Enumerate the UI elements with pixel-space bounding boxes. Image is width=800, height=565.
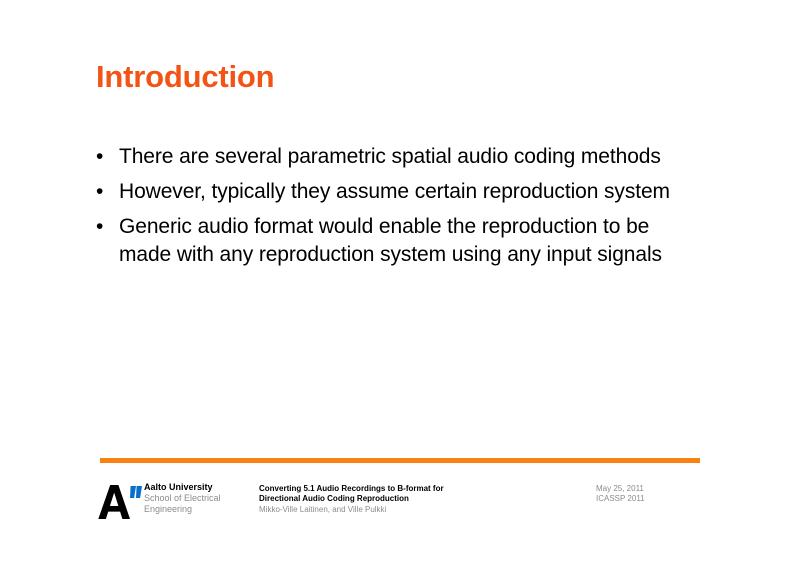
bullet-point-icon: • [93, 143, 119, 171]
list-item: • However, typically they assume certain… [93, 178, 703, 206]
bullet-text: However, typically they assume certain r… [119, 178, 703, 206]
conference-name: ICASSP 2011 [596, 494, 708, 504]
presentation-slide: Introduction • There are several paramet… [0, 0, 800, 565]
organization-name: Aalto University [144, 482, 221, 493]
bullet-list: • There are several parametric spatial a… [93, 143, 703, 276]
slide-footer: Aalto University School of Electrical En… [96, 481, 708, 525]
aalto-a-mark-icon [96, 481, 142, 521]
bullet-text: There are several parametric spatial aud… [119, 143, 703, 171]
aalto-logo-wordmark: Aalto University School of Electrical En… [144, 481, 221, 515]
paper-title-line-2: Directional Audio Coding Reproduction [259, 494, 549, 504]
list-item: • There are several parametric spatial a… [93, 143, 703, 171]
slide-title: Introduction [96, 60, 274, 94]
presentation-meta: May 25, 2011 ICASSP 2011 [596, 484, 708, 504]
presentation-date: May 25, 2011 [596, 484, 708, 494]
school-name-line-1: School of Electrical [144, 493, 221, 504]
aalto-logo: Aalto University School of Electrical En… [96, 481, 221, 521]
bullet-point-icon: • [93, 178, 119, 206]
bullet-text: Generic audio format would enable the re… [119, 213, 703, 269]
list-item: • Generic audio format would enable the … [93, 213, 703, 269]
paper-reference: Converting 5.1 Audio Recordings to B-for… [259, 484, 549, 515]
paper-authors: Mikko-Ville Laitinen, and Ville Pulkki [259, 504, 549, 515]
paper-title-line-1: Converting 5.1 Audio Recordings to B-for… [259, 484, 549, 494]
school-name-line-2: Engineering [144, 504, 221, 515]
bullet-point-icon: • [93, 213, 119, 241]
footer-divider [100, 458, 700, 463]
